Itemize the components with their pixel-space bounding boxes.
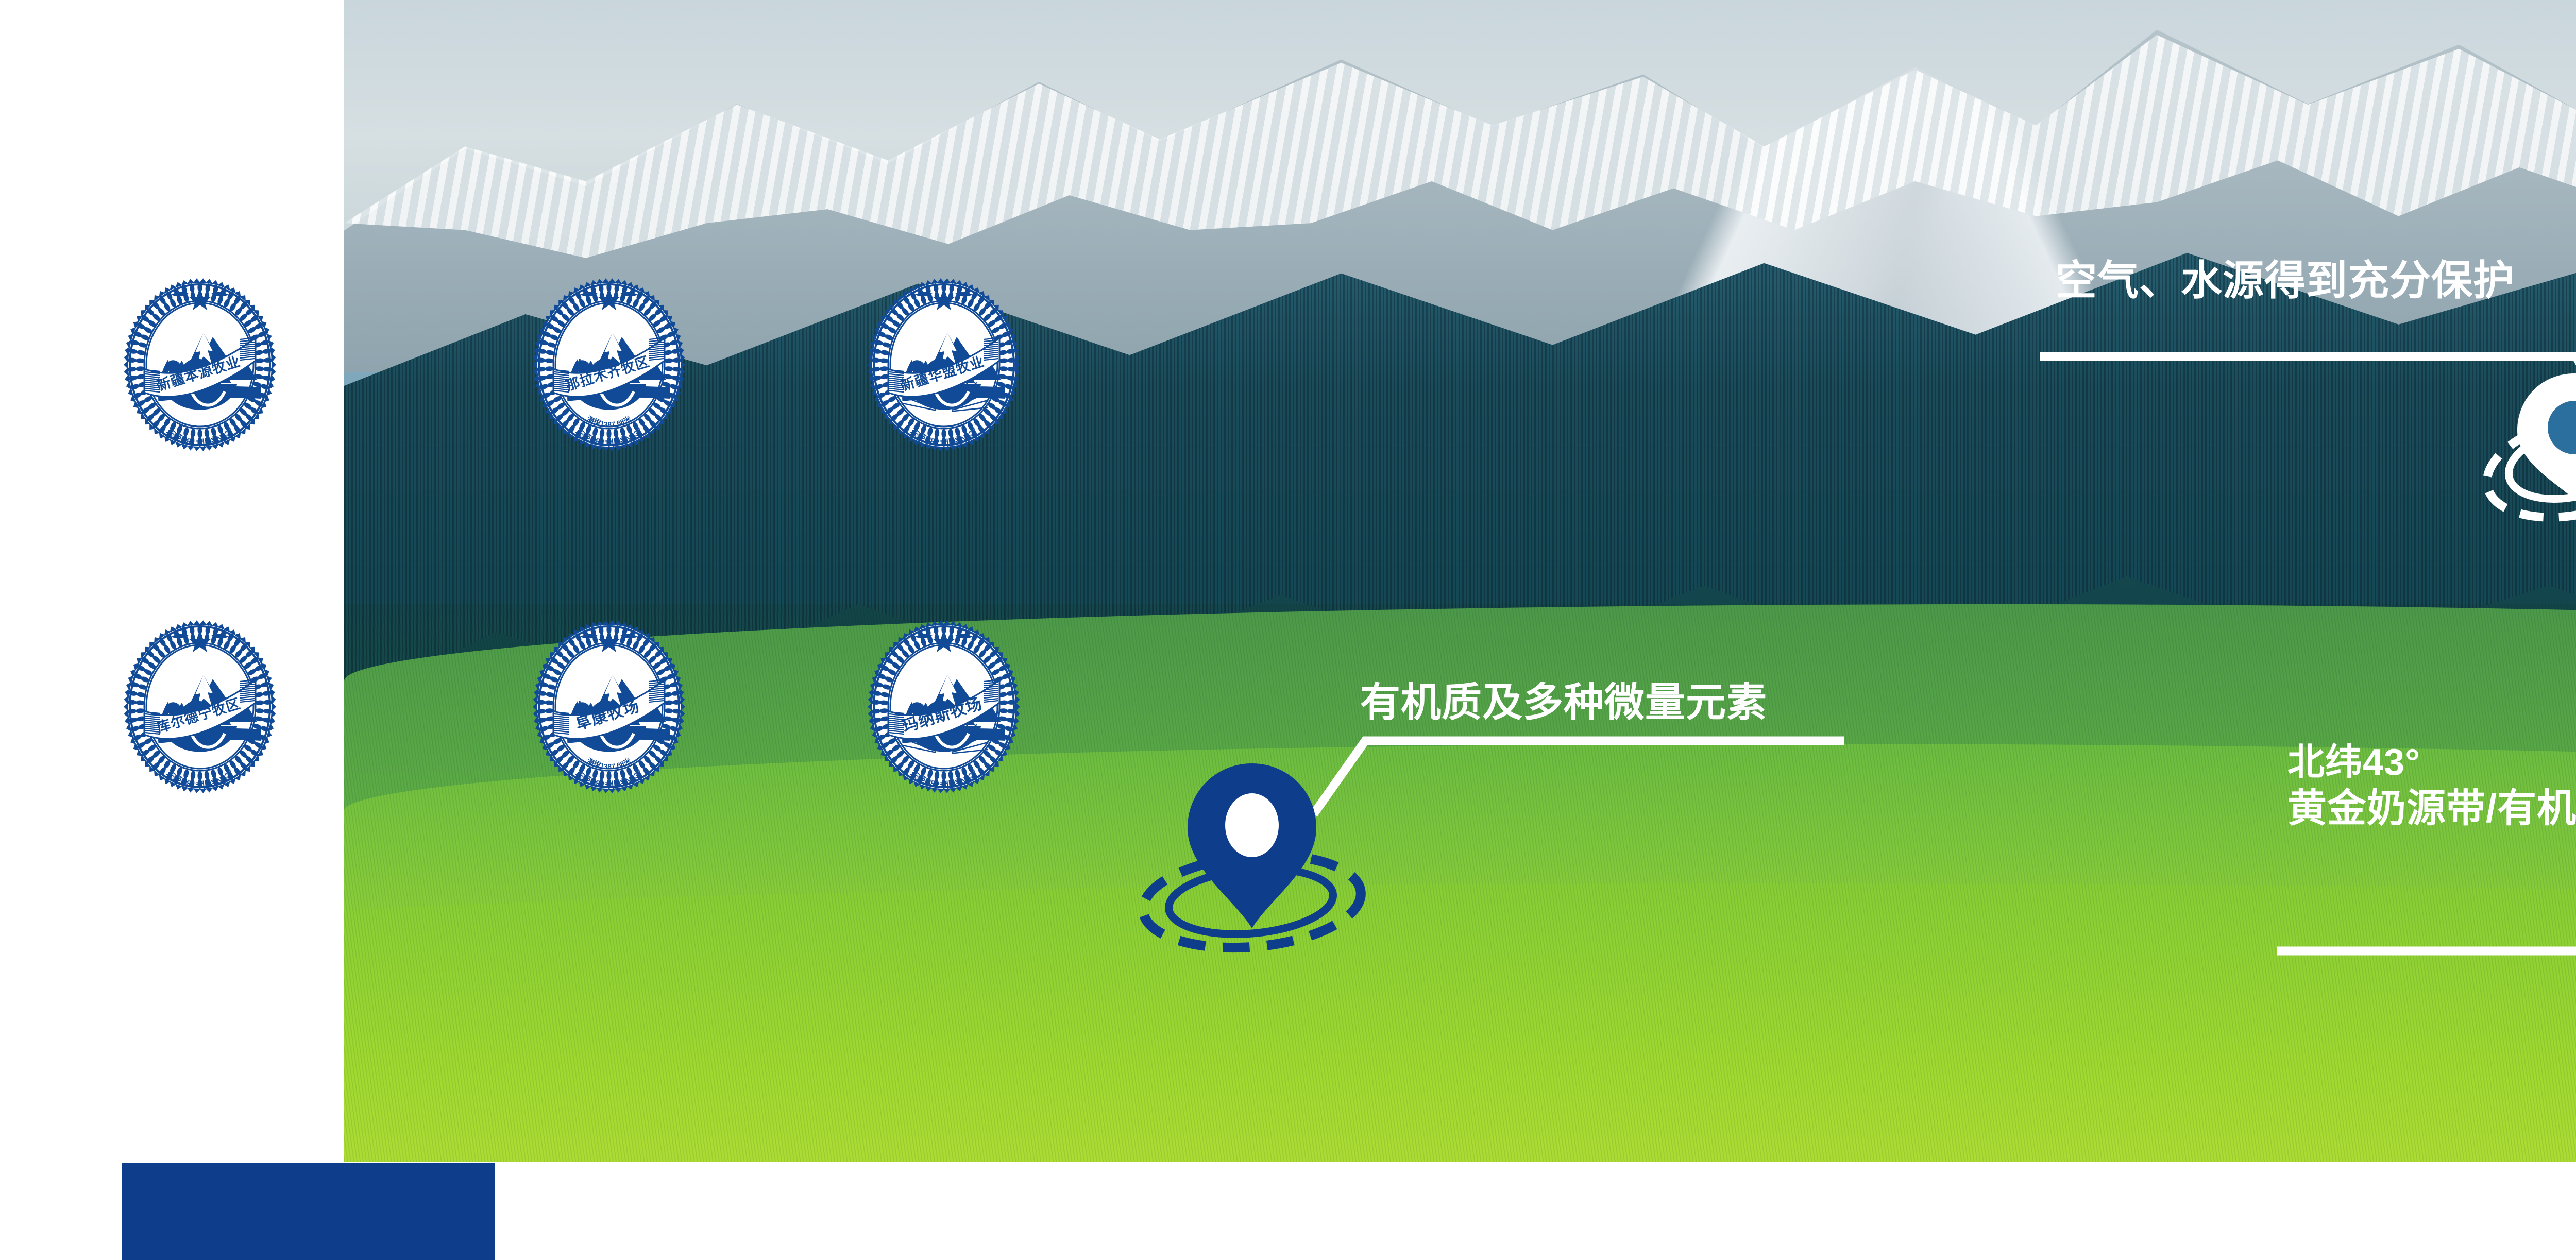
badge-manasi[interactable]: 玛纳斯牧场 东经E82° 北纬N42° xyxy=(861,614,1026,799)
badge-artwork: 玛纳斯牧场 东经E82° 北纬N42° xyxy=(861,614,1026,799)
badge-artwork: 阜康牧场 海拔1387.68米 东经E84° 北纬N43° xyxy=(527,614,691,799)
blue-accent-block xyxy=(122,1163,495,1260)
badge-artwork: 新疆华盟牧业 东经E82° 北纬N42° xyxy=(861,272,1026,457)
badge-artwork: 库尔德宁牧区 东经E81° 北纬N42° xyxy=(117,614,282,799)
map-pin-white[interactable] xyxy=(2468,345,2576,525)
badge-artwork: 那拉木齐牧区 海拔1387.68米 东经E84° 北纬N43° xyxy=(527,272,691,457)
badge-kuerdening[interactable]: 库尔德宁牧区 东经E81° 北纬N42° xyxy=(117,614,282,799)
poster-canvas: 新疆本源牧业 东经E81° 北纬N42° xyxy=(0,0,2576,1260)
badge-artwork: 新疆本源牧业 东经E81° 北纬N42° xyxy=(117,272,282,457)
badge-huameng[interactable]: 新疆华盟牧业 东经E82° 北纬N42° xyxy=(861,272,1026,457)
landscape-photo xyxy=(344,0,2576,1162)
badge-benyuan[interactable]: 新疆本源牧业 东经E81° 北纬N42° xyxy=(117,272,282,457)
callout-air-water[interactable]: 空气、水源得到充分保护 xyxy=(2056,258,2515,304)
callout-organic-matter-line-1: 有机质及多种微量元素 xyxy=(1360,680,1767,725)
callout-organic-matter[interactable]: 有机质及多种微量元素 xyxy=(1360,680,1767,725)
badge-fukang[interactable]: 阜康牧场 海拔1387.68米 东经E84° 北纬N43° xyxy=(527,614,691,799)
badge-nalamuqi[interactable]: 那拉木齐牧区 海拔1387.68米 东经E84° 北纬N43° xyxy=(527,272,691,457)
callout-golden-belt[interactable]: 北纬43° 黄金奶源带/有机牧场 xyxy=(2287,742,2576,830)
callout-golden-belt-line-2: 黄金奶源带/有机牧场 xyxy=(2287,787,2576,830)
callout-golden-belt-line-1: 北纬43° xyxy=(2287,742,2576,784)
leader-line-golden-belt xyxy=(2277,943,2576,1097)
pin-hole-blue-left xyxy=(1225,793,1279,857)
map-pin-blue-left[interactable] xyxy=(1123,747,1381,963)
callout-air-water-line-1: 空气、水源得到充分保护 xyxy=(2056,258,2515,304)
